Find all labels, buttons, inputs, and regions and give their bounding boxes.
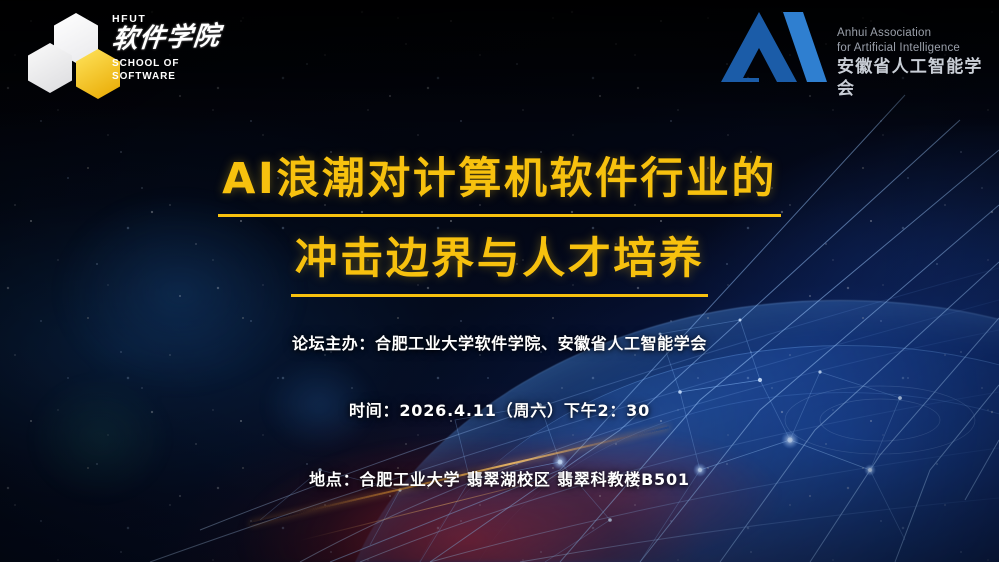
title-line-1: AI浪潮对计算机软件行业的: [218, 148, 781, 217]
aaai-logo-text: Anhui Association for Artificial Intelli…: [837, 26, 993, 100]
hfut-school-of-software-logo: HFUT 软件学院 SCHOOL OF SOFTWARE: [24, 13, 234, 91]
forum-host-line: 论坛主办：合肥工业大学软件学院、安徽省人工智能学会: [0, 330, 999, 354]
poster-slide: HFUT 软件学院 SCHOOL OF SOFTWARE Anhui Assoc…: [0, 0, 999, 562]
anhui-aai-logo: Anhui Association for Artificial Intelli…: [719, 10, 991, 90]
forum-time-line: 时间：2026.4.11（周六）下午2：30: [0, 397, 999, 421]
title-line-2: 冲击边界与人才培养: [291, 228, 709, 297]
hfut-english-name: SCHOOL OF SOFTWARE: [112, 57, 237, 83]
aaai-chinese-name: 安徽省人工智能学会: [837, 56, 993, 100]
aaai-english-line-2: for Artificial Intelligence: [837, 41, 993, 56]
aaai-triangle-mark-icon: [719, 10, 827, 82]
title-line-spacer: [0, 217, 999, 228]
aaai-english-line-1: Anhui Association: [837, 26, 993, 41]
forum-place-line: 地点：合肥工业大学 翡翠湖校区 翡翠科教楼B501: [0, 466, 999, 490]
hfut-logo-text: HFUT 软件学院 SCHOOL OF SOFTWARE: [112, 13, 237, 83]
poster-title: AI浪潮对计算机软件行业的 冲击边界与人才培养: [0, 148, 999, 297]
hfut-chinese-name: 软件学院: [111, 21, 239, 55]
